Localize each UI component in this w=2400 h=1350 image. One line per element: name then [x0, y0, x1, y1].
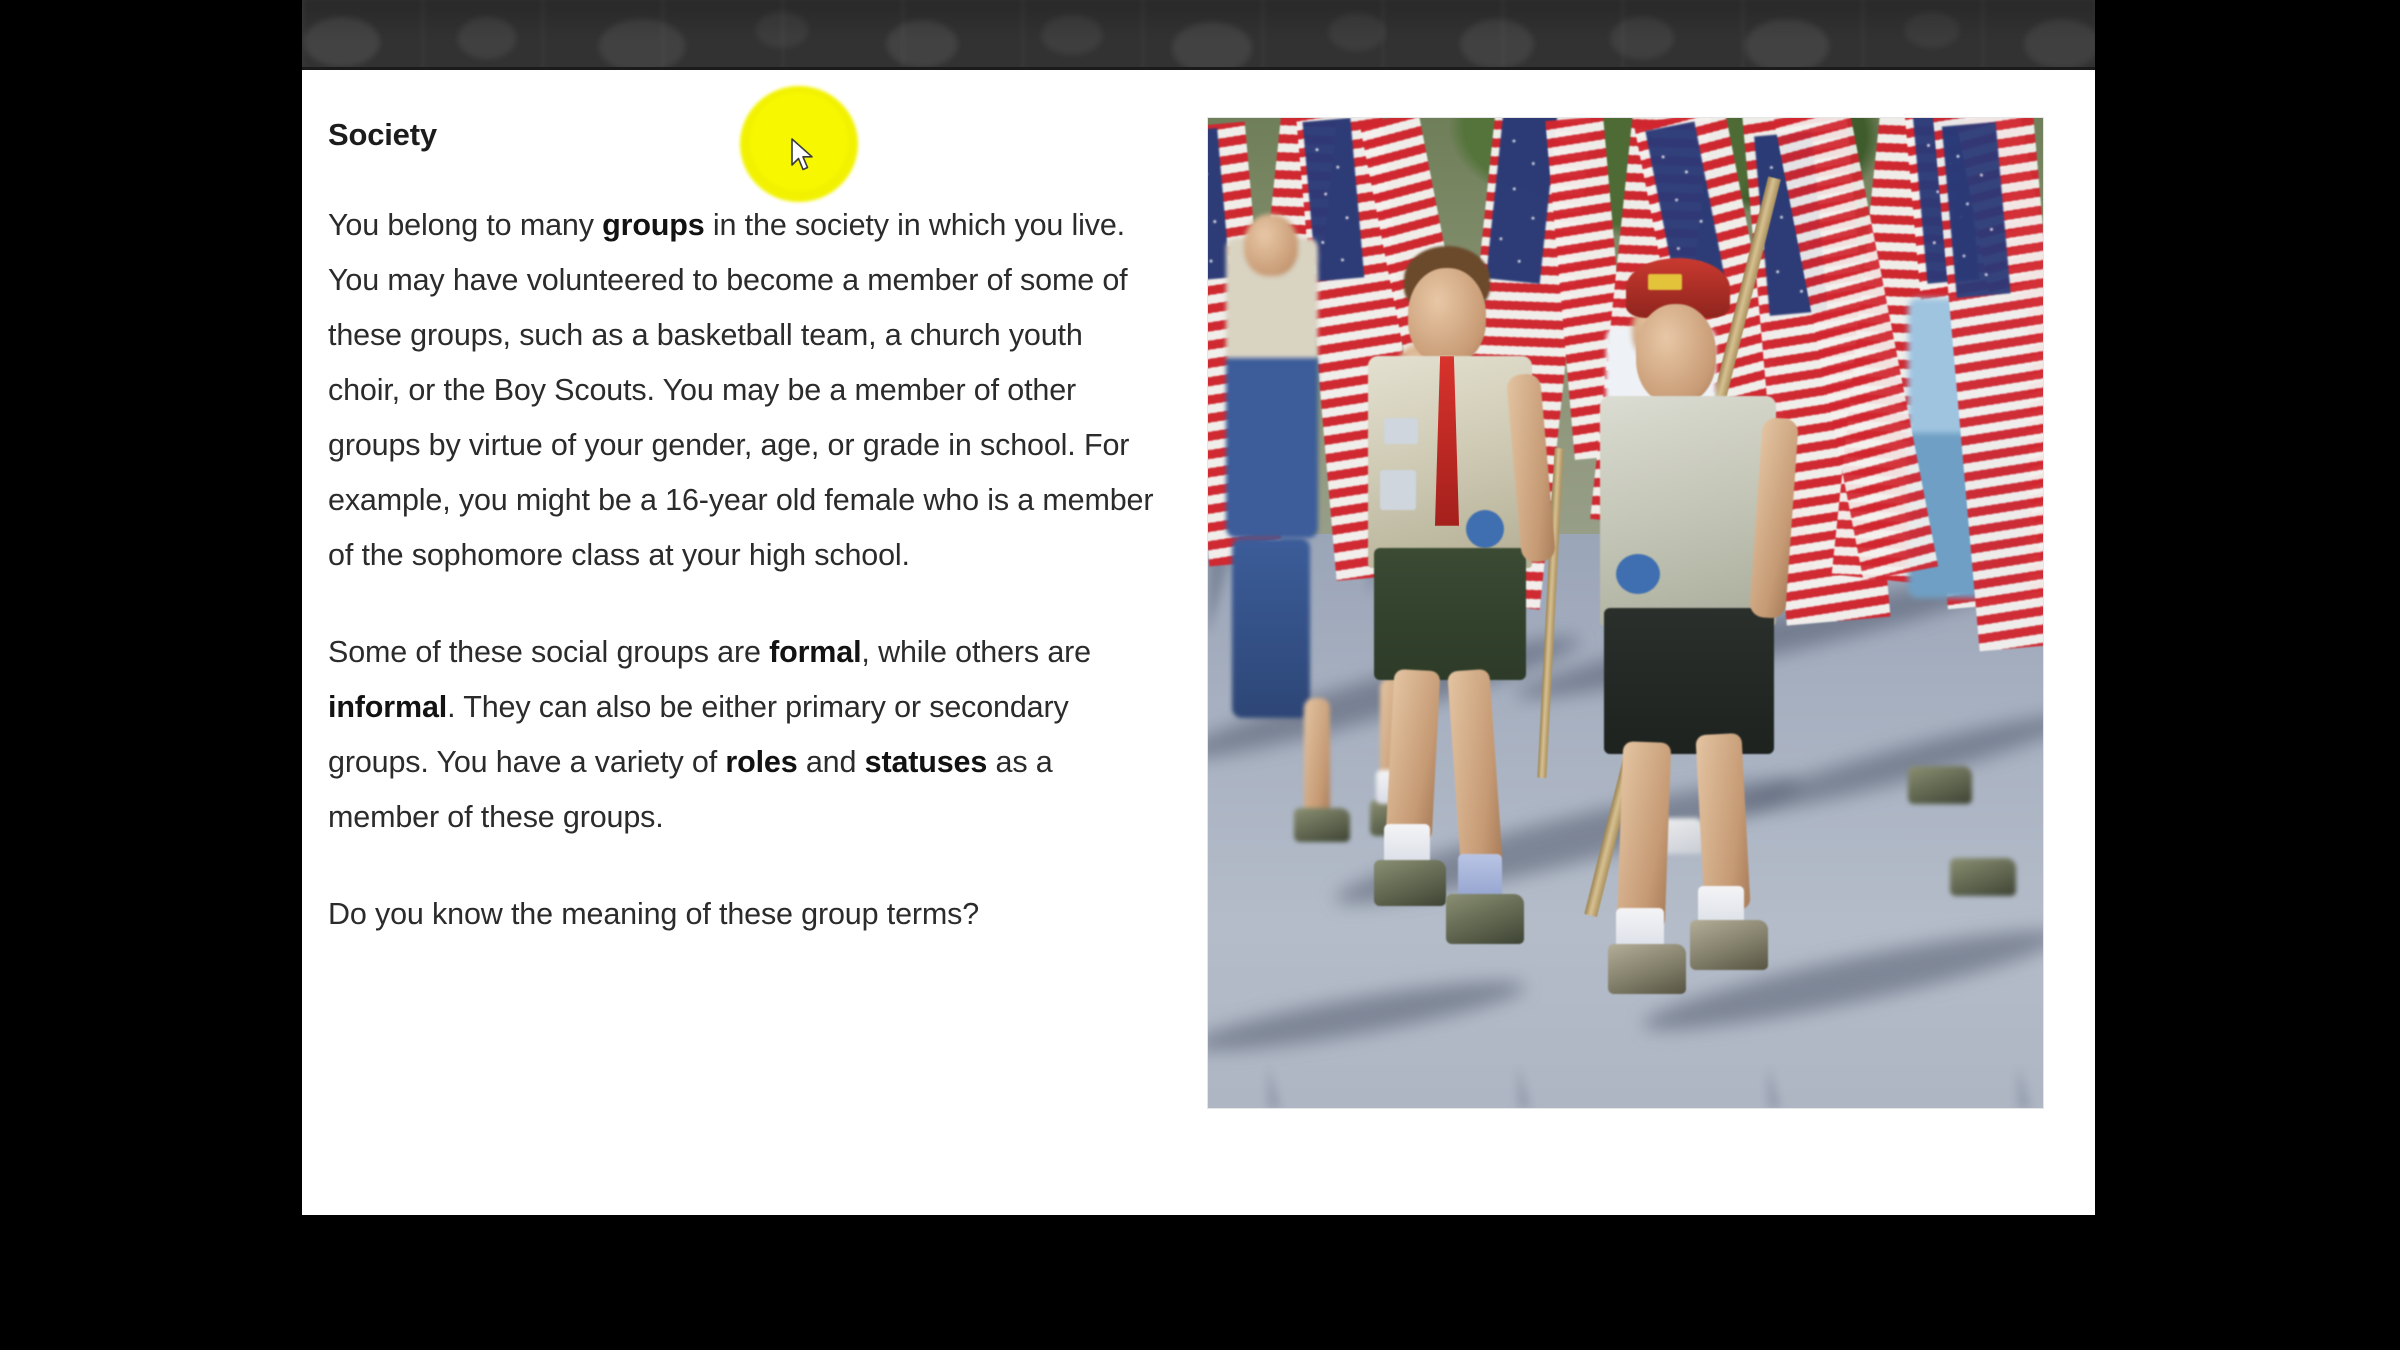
scout-shorts — [1604, 608, 1774, 754]
body-text-run: and — [798, 745, 865, 779]
cap-emblem — [1648, 274, 1682, 290]
scout-head — [1636, 304, 1716, 404]
slide-body-text: You belong to many groups in the society… — [328, 198, 1158, 942]
arrow-pointer-icon[interactable] — [790, 138, 816, 172]
scout-leg — [1695, 733, 1750, 911]
emphasized-term: roles — [725, 745, 797, 779]
scout-boot — [1374, 860, 1446, 906]
body-text-run: , while others are — [861, 635, 1091, 669]
uniform-patch — [1384, 418, 1418, 444]
body-paragraph: You belong to many groups in the society… — [328, 198, 1158, 583]
flag-canton — [1942, 122, 2011, 298]
background-boot — [1294, 808, 1350, 842]
uniform-badge — [1616, 554, 1660, 594]
scout-leg — [1617, 741, 1671, 929]
body-text-run: Do you know the meaning of these group t… — [328, 897, 979, 931]
background-boot — [1950, 858, 2016, 896]
emphasized-term: formal — [769, 635, 861, 669]
body-paragraph: Do you know the meaning of these group t… — [328, 887, 1158, 942]
slide-text-column: Society You belong to many groups in the… — [328, 118, 1158, 942]
body-text-run: Some of these social groups are — [328, 635, 769, 669]
previous-slide-dark-band — [302, 0, 2095, 70]
emphasized-term: statuses — [865, 745, 988, 779]
scout-boot — [1608, 944, 1686, 994]
photo-canvas — [1208, 118, 2043, 1108]
body-text-run: You belong to many — [328, 208, 602, 242]
slide-photo — [1208, 118, 2043, 1108]
scout-boot — [1690, 920, 1768, 970]
background-person — [1226, 238, 1318, 538]
background-person-head — [1244, 214, 1298, 276]
scout-head — [1408, 268, 1486, 364]
body-paragraph: Some of these social groups are formal, … — [328, 625, 1158, 845]
slide-panel: Society You belong to many groups in the… — [302, 70, 2095, 1215]
scout-leg — [1386, 669, 1441, 841]
background-person-legs — [1232, 538, 1310, 718]
emphasized-term: groups — [602, 208, 704, 242]
uniform-patch — [1380, 470, 1416, 510]
band-texture-overlay — [302, 0, 2095, 70]
scout-boot — [1446, 894, 1524, 944]
screen: Society You belong to many groups in the… — [0, 0, 2400, 1350]
uniform-badge — [1466, 510, 1504, 548]
emphasized-term: informal — [328, 690, 447, 724]
body-text-run: in the society in which you live. You ma… — [328, 208, 1153, 572]
background-boot — [1908, 766, 1972, 804]
background-leg — [1304, 698, 1330, 818]
scout-shorts — [1374, 548, 1526, 680]
